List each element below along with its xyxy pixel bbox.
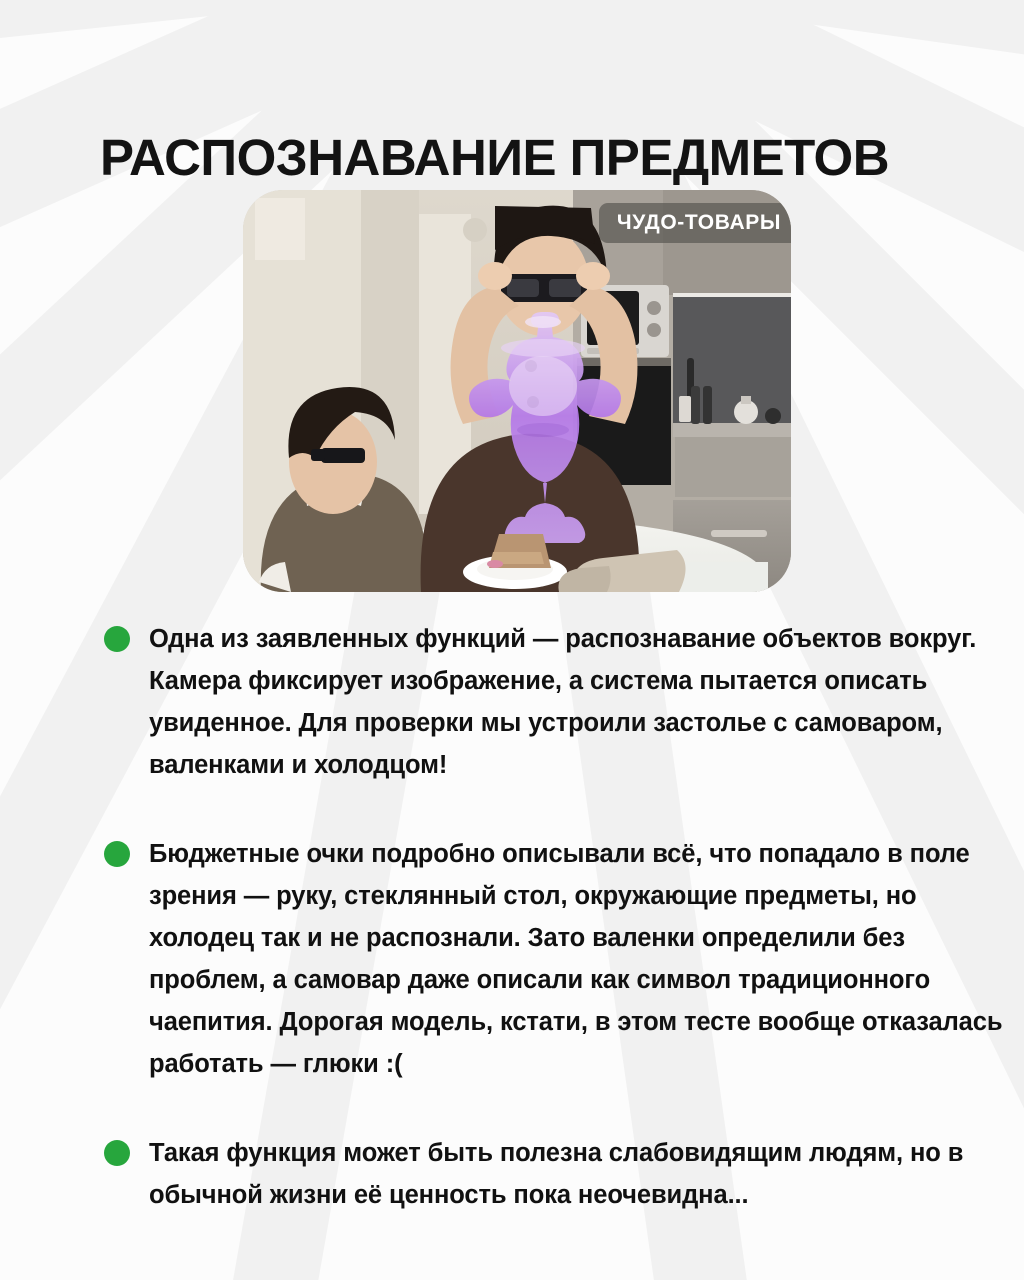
bullet-text: Одна из заявленных функций — распознаван… — [149, 618, 1014, 786]
watermark-label: ЧУДО-ТОВАРЫ — [599, 203, 791, 243]
photo-card: ЧУДО-ТОВАРЫ — [243, 190, 791, 592]
bullet-item: Одна из заявленных функций — распознаван… — [104, 618, 1014, 786]
photo-image — [243, 190, 791, 592]
bullet-text: Такая функция может быть полезна слабови… — [149, 1132, 1014, 1216]
bullet-item: Бюджетные очки подробно описывали всё, ч… — [104, 833, 1014, 1085]
bullet-list: Одна из заявленных функций — распознаван… — [104, 618, 1014, 1216]
green-dot-icon — [104, 841, 130, 867]
bullet-text: Бюджетные очки подробно описывали всё, ч… — [149, 833, 1014, 1085]
page-title: РАСПОЗНАВАНИЕ ПРЕДМЕТОВ — [100, 130, 960, 186]
green-dot-icon — [104, 1140, 130, 1166]
bullet-item: Такая функция может быть полезна слабови… — [104, 1132, 1014, 1216]
green-dot-icon — [104, 626, 130, 652]
post-card: РАСПОЗНАВАНИЕ ПРЕДМЕТОВ — [0, 0, 1024, 1280]
